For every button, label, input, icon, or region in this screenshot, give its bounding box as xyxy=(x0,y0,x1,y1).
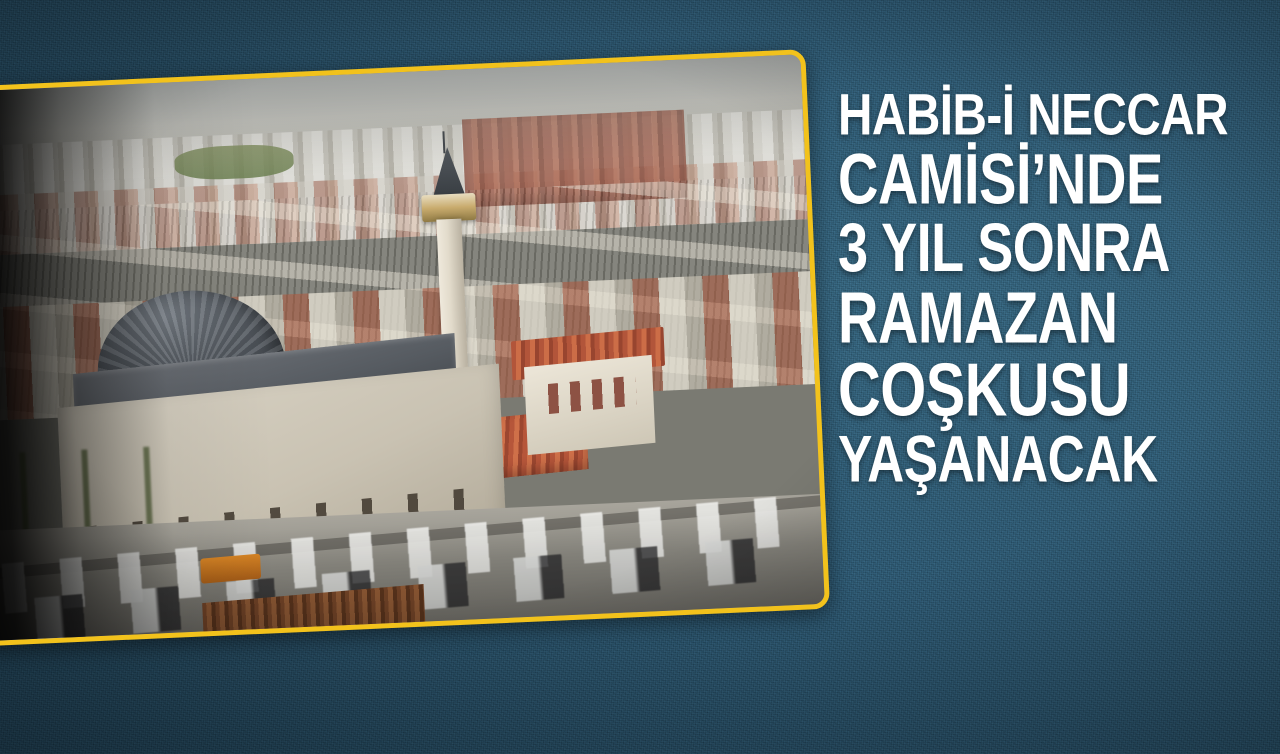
headline-line-5: COŞKUSU xyxy=(838,358,1270,423)
headline-line-2: CAMİSİ’NDE xyxy=(838,148,1262,210)
photo-vignette xyxy=(0,54,825,641)
news-photo-frame xyxy=(0,49,830,647)
headline-line-3: 3 YIL SONRA xyxy=(838,219,1270,278)
headline-line-4: RAMAZAN xyxy=(838,287,1262,350)
news-photo xyxy=(0,54,825,641)
headline-line-1: HABİB-İ NECCAR xyxy=(838,90,1280,140)
headline-line-6: YAŞANACAK xyxy=(838,432,1275,489)
news-graphic-canvas: HABİB-İ NECCAR CAMİSİ’NDE 3 YIL SONRA RA… xyxy=(0,0,1280,754)
headline-block: HABİB-İ NECCAR CAMİSİ’NDE 3 YIL SONRA RA… xyxy=(838,96,1262,481)
